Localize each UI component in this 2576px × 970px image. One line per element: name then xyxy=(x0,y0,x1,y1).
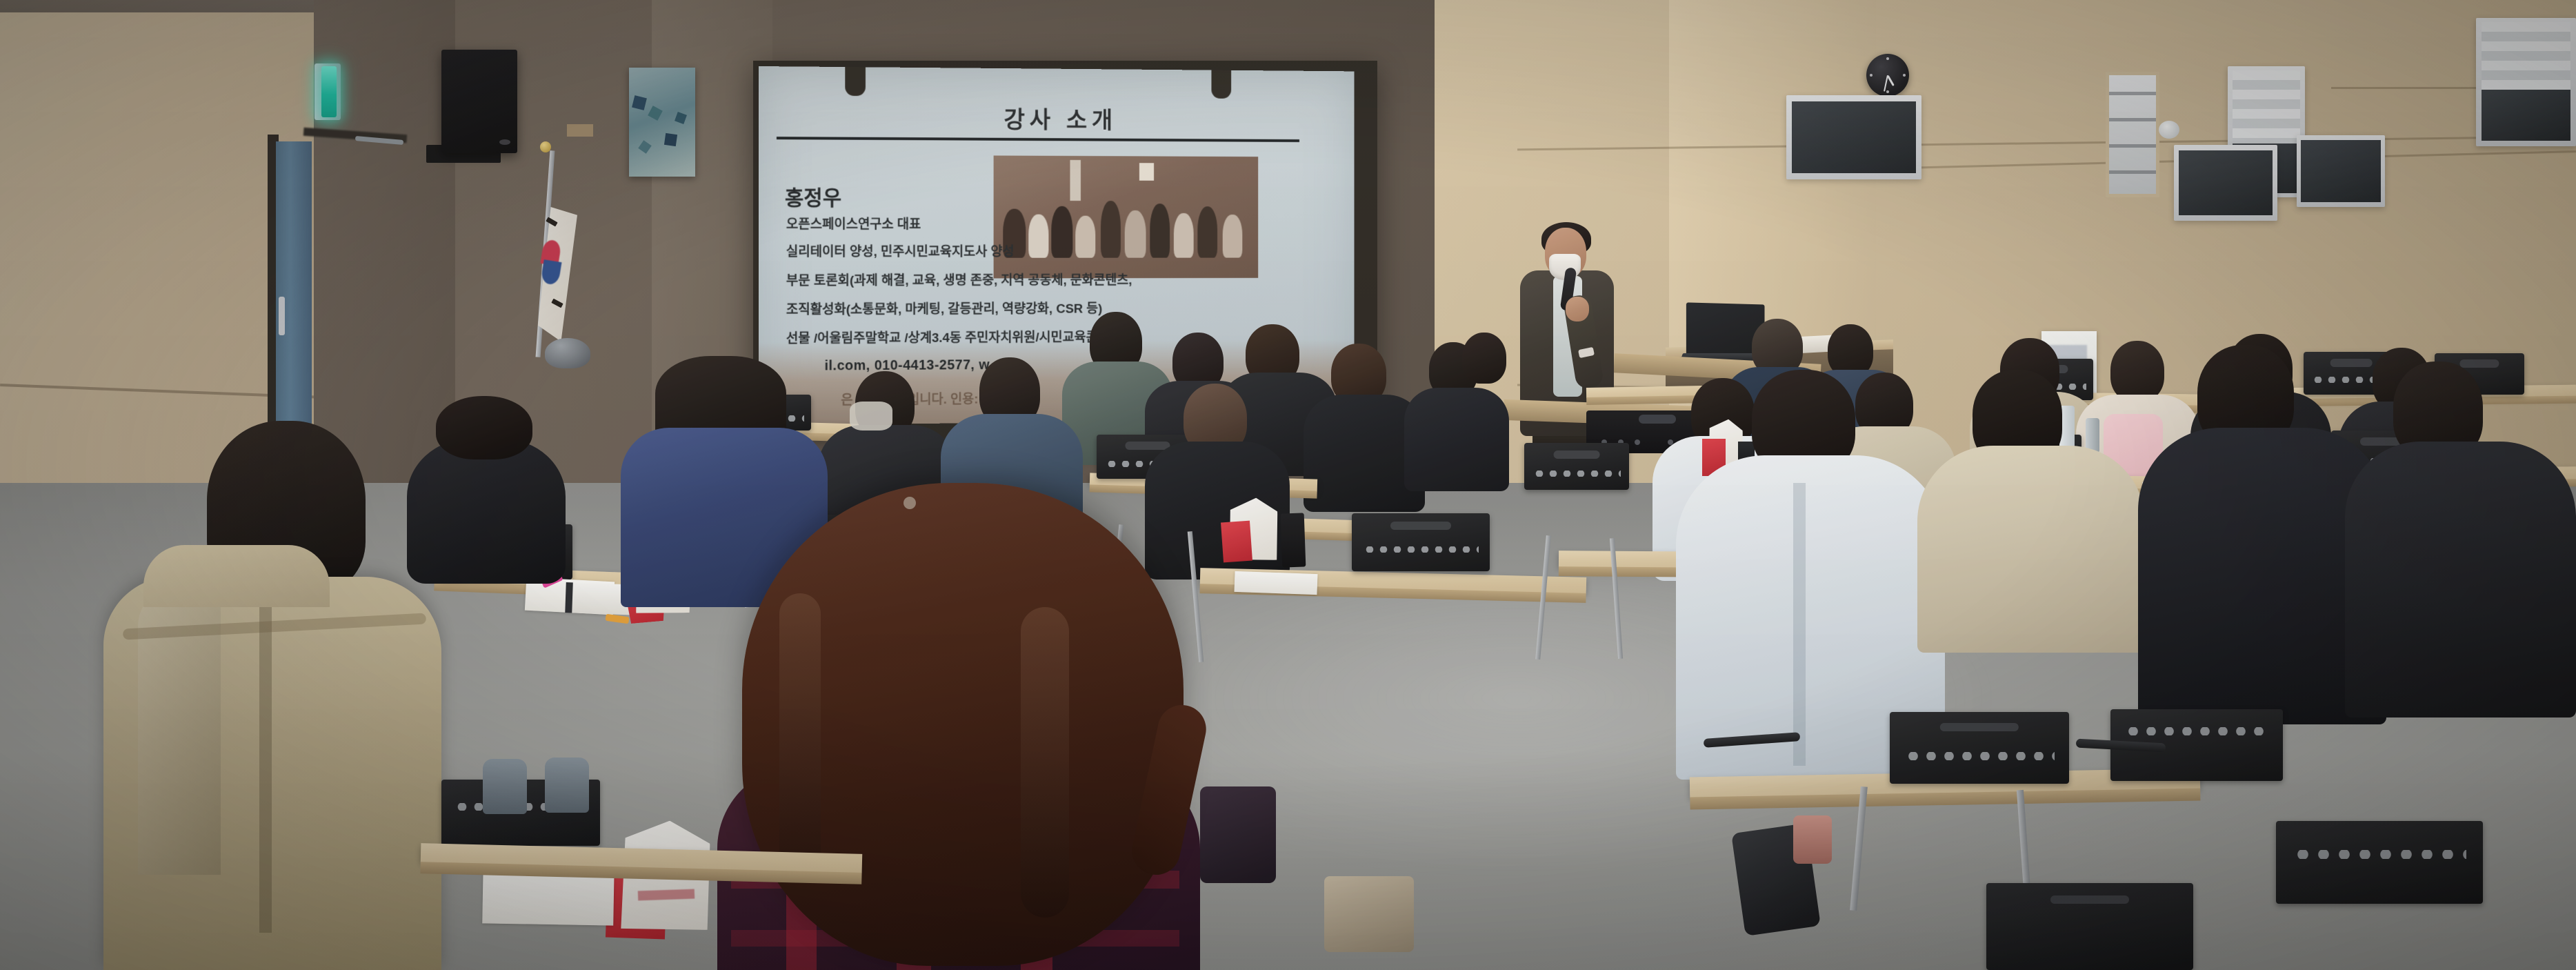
photo-figure xyxy=(1150,204,1170,258)
lecture-hall-photo: 강사 소개 홍정우 오픈스페이스연구소 대표 실리테이터 양성, 민주시민교육지… xyxy=(0,0,2576,970)
chair-handle xyxy=(1125,442,1170,450)
chair-handle xyxy=(1390,522,1451,530)
art-chip xyxy=(638,140,651,153)
shopping-bag xyxy=(1221,521,1252,563)
vent-slat xyxy=(2109,92,2156,95)
chair-handle xyxy=(2330,359,2373,367)
flag-base xyxy=(545,338,590,368)
smoke-detector-icon xyxy=(2159,121,2179,139)
wall-vent xyxy=(2106,72,2159,197)
chair-handle xyxy=(2050,895,2129,904)
wall-artwork xyxy=(629,68,695,177)
art-chip xyxy=(664,133,677,146)
photo-figure xyxy=(1051,206,1072,258)
screen-clip xyxy=(845,66,866,96)
door-handle[interactable] xyxy=(279,297,285,335)
exit-sign-icon xyxy=(321,66,337,117)
art-chip xyxy=(675,112,687,124)
audience-head xyxy=(436,396,532,459)
handbag xyxy=(1324,876,1414,952)
clock-tick xyxy=(1870,74,1873,77)
clock-tick xyxy=(1886,90,1889,93)
audience-torso xyxy=(407,439,566,584)
chair-vent-holes xyxy=(2124,727,2269,735)
audience-head xyxy=(1462,333,1506,384)
chair[interactable] xyxy=(1524,443,1629,490)
chair[interactable] xyxy=(2276,821,2483,904)
photo-figure xyxy=(1075,216,1095,258)
chair-handle xyxy=(2459,359,2499,368)
art-chip xyxy=(632,95,647,110)
jacket-seam xyxy=(259,588,272,933)
window xyxy=(2476,18,2576,146)
slide-line-2: 실리테이터 양성, 민주시민교육지도사 양성 xyxy=(786,241,1015,260)
chair-vent-holes xyxy=(2293,850,2466,859)
hair-strand xyxy=(779,593,821,883)
mixer-handle[interactable] xyxy=(1639,415,1676,424)
clock-tick xyxy=(1886,57,1889,60)
face-mask-icon xyxy=(850,402,892,430)
foreground-person-dark-top xyxy=(2345,442,2576,717)
foreground-person-beige-top xyxy=(1917,446,2145,653)
slide-speaker-name: 홍정우 xyxy=(785,181,841,211)
slide-title: 강사 소개 xyxy=(759,99,1354,137)
chair-handle xyxy=(1554,451,1600,459)
hair-strand xyxy=(1021,607,1069,918)
audience-head xyxy=(1828,324,1873,377)
photo-figure xyxy=(1174,213,1194,258)
thermos xyxy=(1793,815,1832,864)
chair[interactable] xyxy=(1890,712,2069,784)
photo-flag xyxy=(1070,160,1080,201)
shoe xyxy=(545,758,589,813)
wall-speaker-icon xyxy=(441,50,517,153)
window-glass xyxy=(2179,150,2273,215)
window-blind[interactable] xyxy=(2482,22,2570,90)
chair-vent-holes xyxy=(1363,546,1479,553)
clock-tick xyxy=(1903,74,1906,77)
photo-lamp xyxy=(1139,163,1154,181)
bag xyxy=(1200,786,1276,883)
chair[interactable] xyxy=(1352,513,1490,571)
slide-photo xyxy=(994,155,1259,278)
shirt-seam xyxy=(1793,483,1806,766)
wall-clock-icon xyxy=(1866,54,1909,97)
audience-head xyxy=(2110,341,2164,402)
slide-line-3: 부문 토론회(과제 해결, 교육, 생명 존중, 지역 공동체, 문화콘텐츠, xyxy=(786,270,1132,289)
slide-contact: il.com, 010-4413-2577, w xyxy=(825,357,990,374)
photo-figure xyxy=(1101,201,1121,258)
flag-finial xyxy=(540,141,551,152)
chair-handle xyxy=(1940,723,2019,731)
window-glass xyxy=(2482,90,2570,141)
slide-line-1: 오픈스페이스연구소 대표 xyxy=(786,214,921,232)
desk-device xyxy=(1281,513,1306,567)
hair-clip xyxy=(903,497,916,509)
slide-divider xyxy=(777,137,1299,142)
window xyxy=(2297,135,2385,207)
window xyxy=(2174,145,2277,221)
jacket-collar xyxy=(143,545,330,607)
presenter-hand xyxy=(1566,297,1589,321)
chair-vent-holes xyxy=(1532,471,1621,477)
window xyxy=(1786,95,1921,179)
chair-vent-holes xyxy=(1904,752,2055,760)
photo-figure xyxy=(1125,210,1146,258)
window-glass xyxy=(2301,140,2381,202)
mixer-knob[interactable] xyxy=(1635,439,1640,445)
speaker-logo xyxy=(499,139,510,145)
vent-slat xyxy=(2109,144,2156,148)
paper xyxy=(1235,571,1318,595)
shoe xyxy=(483,759,527,814)
slide-line-4: 조직활성화(소통문화, 마케팅, 갈등관리, 역량강화, CSR 등) xyxy=(786,299,1102,318)
photo-figure xyxy=(1028,215,1048,258)
chair[interactable] xyxy=(1986,883,2193,970)
bag-print xyxy=(638,889,695,901)
photo-figure xyxy=(1223,215,1243,258)
art-chip xyxy=(648,106,663,121)
photo-figure xyxy=(1197,206,1217,257)
screen-clip xyxy=(1211,68,1231,99)
wall-tape-mark xyxy=(567,124,593,137)
audience-torso xyxy=(1404,388,1509,491)
vent-slat xyxy=(2109,170,2156,174)
window-glass xyxy=(1792,101,1916,173)
vent-slat xyxy=(2109,118,2156,121)
clock-minute-hand xyxy=(1884,75,1888,92)
window-blind[interactable] xyxy=(2233,70,2300,143)
